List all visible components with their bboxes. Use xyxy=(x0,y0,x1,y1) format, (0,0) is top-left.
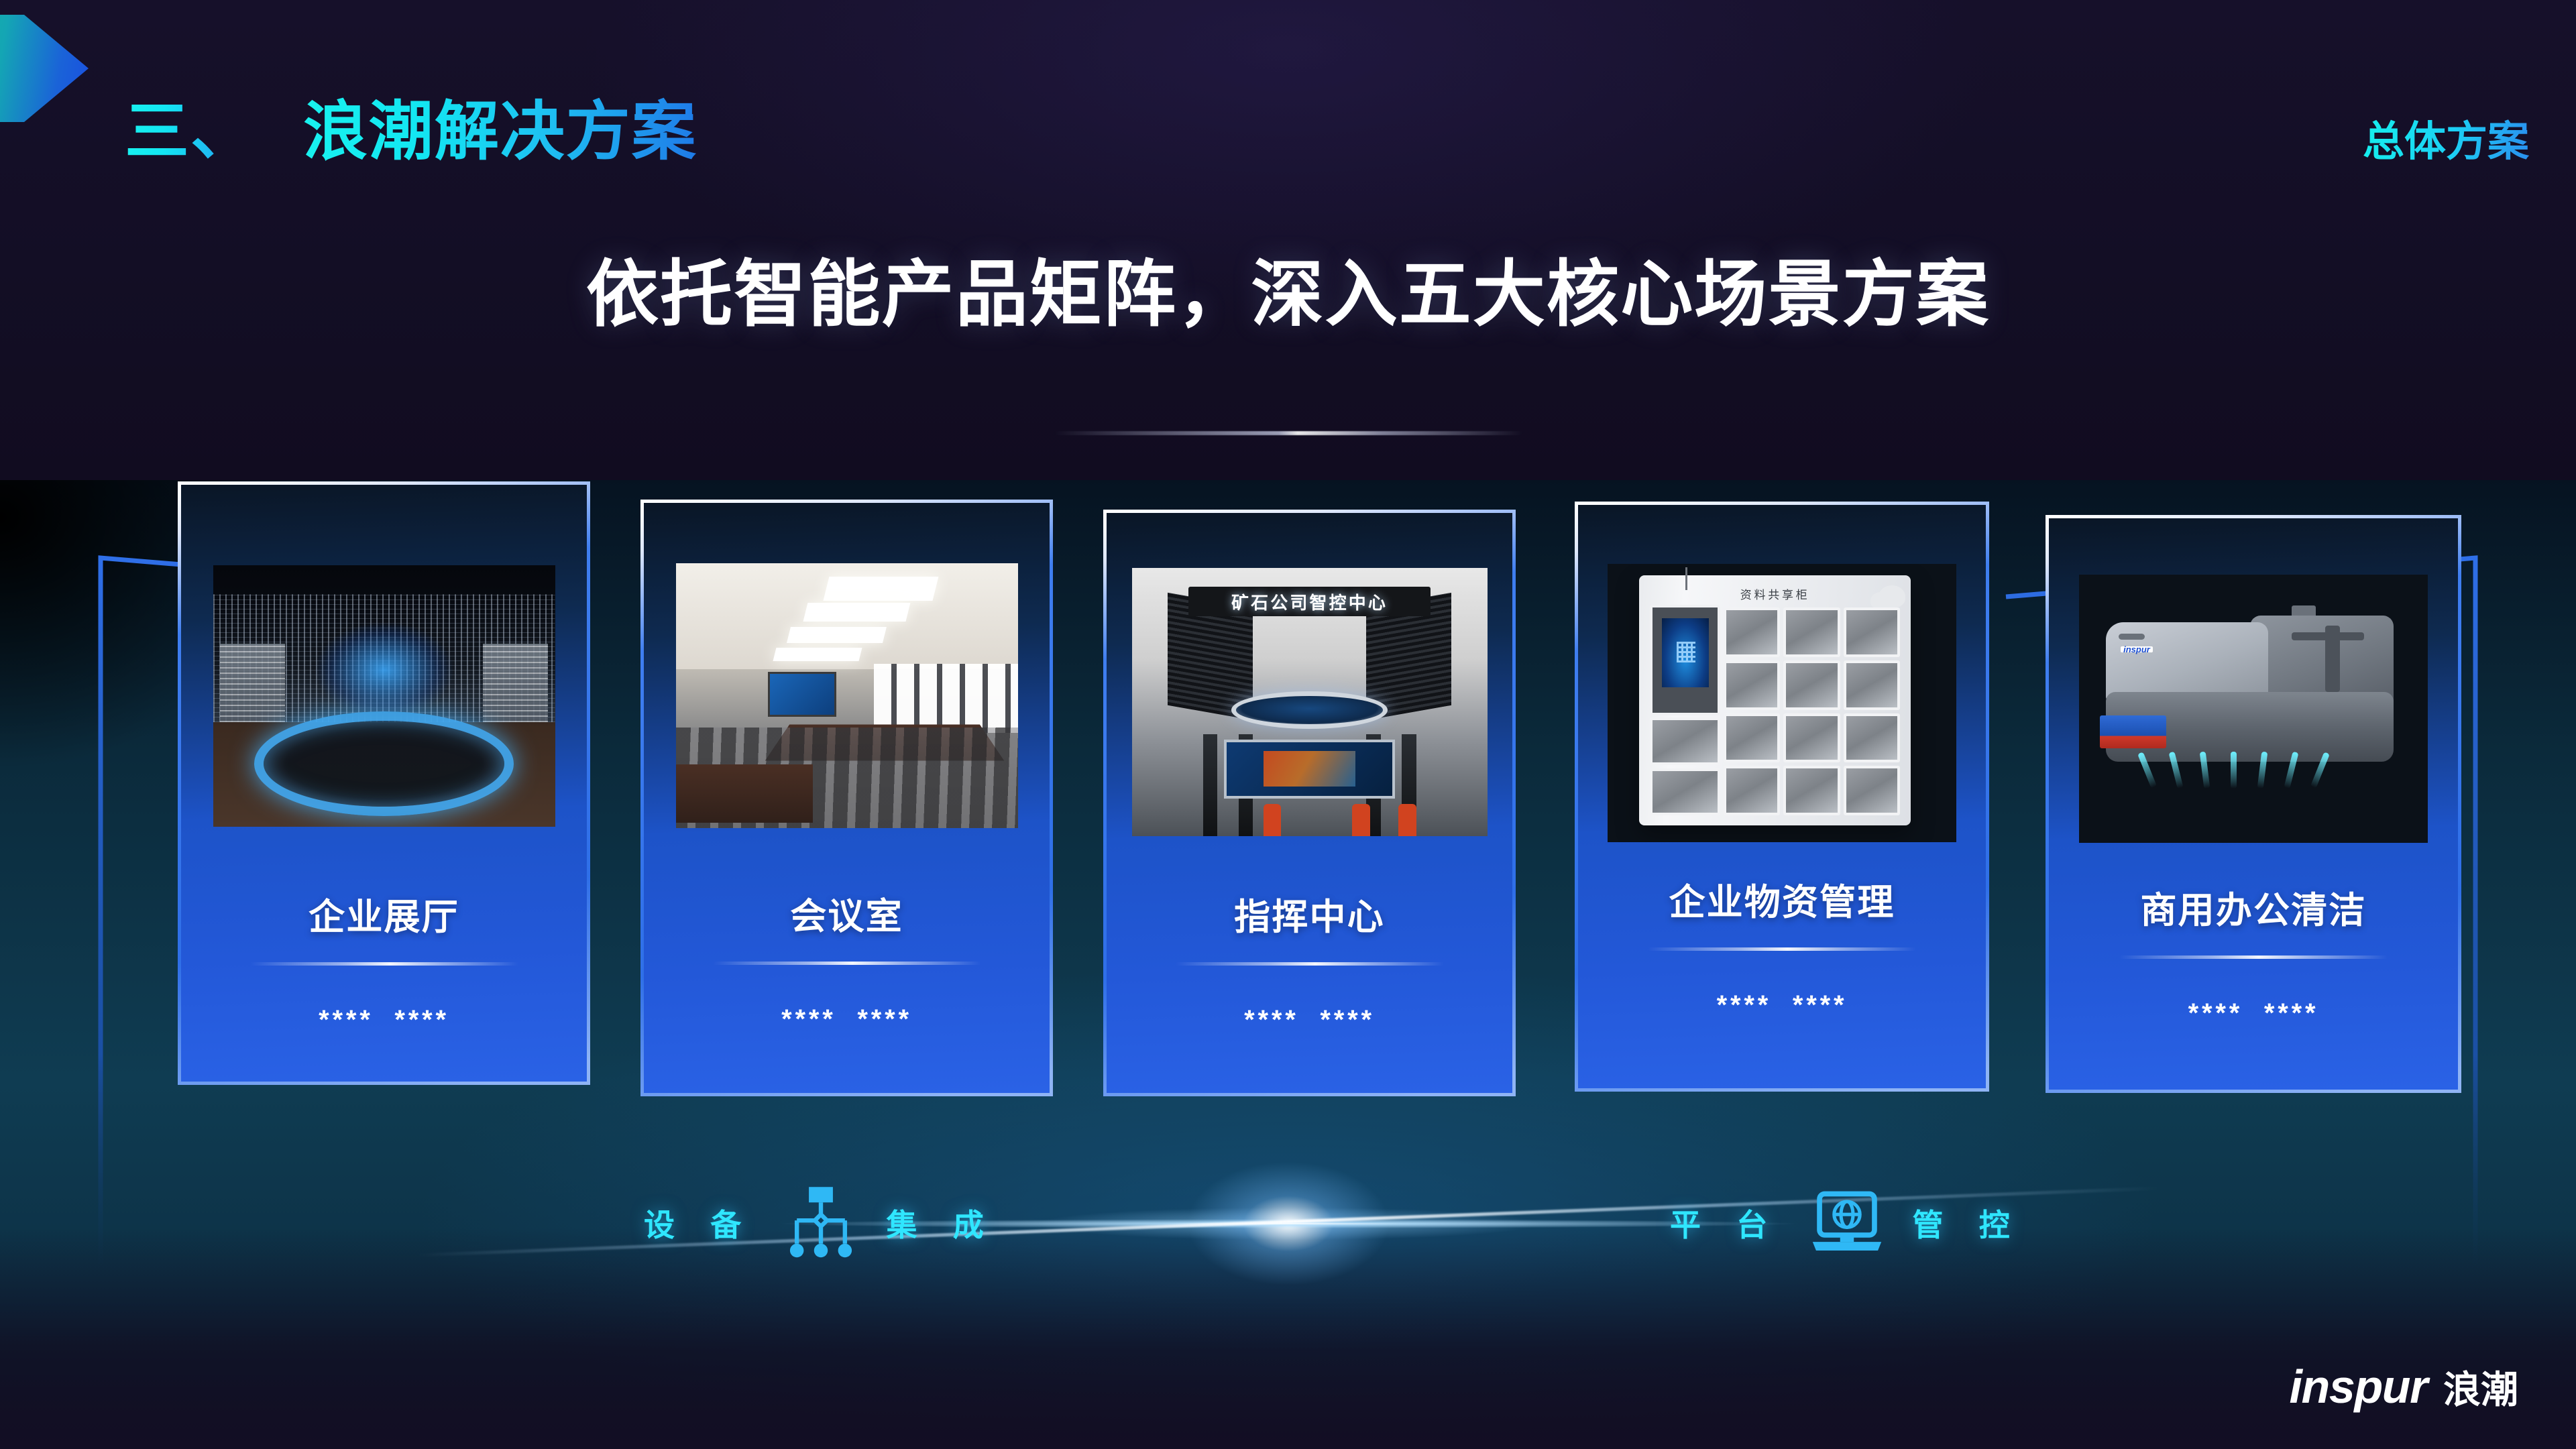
card-stars: **** **** xyxy=(181,1005,587,1035)
card-divider xyxy=(250,962,518,966)
card-label: 企业物资管理 xyxy=(1578,872,1986,925)
slide-canvas: 三、 浪潮解决方案 总体方案 依托智能产品矩阵，深入五大核心场景方案 xyxy=(0,0,2576,1449)
robot-brand-mark: inspur xyxy=(2121,646,2153,653)
scenario-card-enterprise-hall[interactable]: 企业展厅 **** **** xyxy=(178,481,590,1085)
card-label: 企业展厅 xyxy=(181,887,587,940)
bottom-word-device: 设 备 xyxy=(644,1201,755,1245)
locker-title-text: 资料共享柜 xyxy=(1639,585,1911,602)
card-stars: **** **** xyxy=(1578,990,1986,1021)
card-stars: **** **** xyxy=(644,1004,1050,1035)
cleaning-robot-photo: inspur xyxy=(2079,575,2428,843)
bottom-group-platform-control: 平 台 管 控 xyxy=(1670,1180,2023,1266)
scenario-card-material-management[interactable]: 资料共享柜 企业物资管理 * xyxy=(1575,502,1989,1092)
scenario-card-conference-room[interactable]: 会议室 **** **** xyxy=(640,500,1053,1096)
scenario-card-rail: 企业展厅 **** **** 会议室 xyxy=(0,0,2576,1449)
card-divider xyxy=(1648,947,1916,951)
card-label: 指挥中心 xyxy=(1107,887,1512,940)
logo-text-en: inspur xyxy=(2290,1360,2428,1413)
bottom-word-integration: 集 成 xyxy=(887,1201,998,1245)
smart-locker-cabinet-photo: 资料共享柜 xyxy=(1608,564,1956,842)
laptop-globe-icon xyxy=(1804,1180,1890,1266)
bottom-word-control: 管 控 xyxy=(1913,1201,2024,1245)
bottom-group-device-integration: 设 备 集 成 xyxy=(644,1180,997,1266)
conference-room-photo xyxy=(676,563,1018,828)
enterprise-exhibition-hall-photo xyxy=(213,565,555,827)
card-divider xyxy=(713,962,981,965)
logo-text-cn: 浪潮 xyxy=(2443,1360,2518,1414)
network-hierarchy-icon xyxy=(778,1180,864,1266)
bottom-word-platform: 平 台 xyxy=(1670,1201,1781,1245)
card-stars: **** **** xyxy=(1107,1005,1512,1035)
card-divider xyxy=(2119,955,2388,959)
command-center-sign-text: 矿石公司智控中心 xyxy=(1188,587,1430,616)
card-label: 商用办公清洁 xyxy=(2049,880,2458,933)
card-stars: **** **** xyxy=(2049,998,2458,1029)
inspur-logo: inspur 浪潮 xyxy=(2290,1360,2519,1414)
card-divider xyxy=(1176,962,1444,966)
scenario-card-command-center[interactable]: 矿石公司智控中心 指挥中心 **** **** xyxy=(1103,510,1516,1096)
card-label: 会议室 xyxy=(644,886,1050,939)
scenario-card-office-cleaning[interactable]: inspur xyxy=(2046,515,2461,1093)
command-center-photo: 矿石公司智控中心 xyxy=(1132,568,1488,836)
